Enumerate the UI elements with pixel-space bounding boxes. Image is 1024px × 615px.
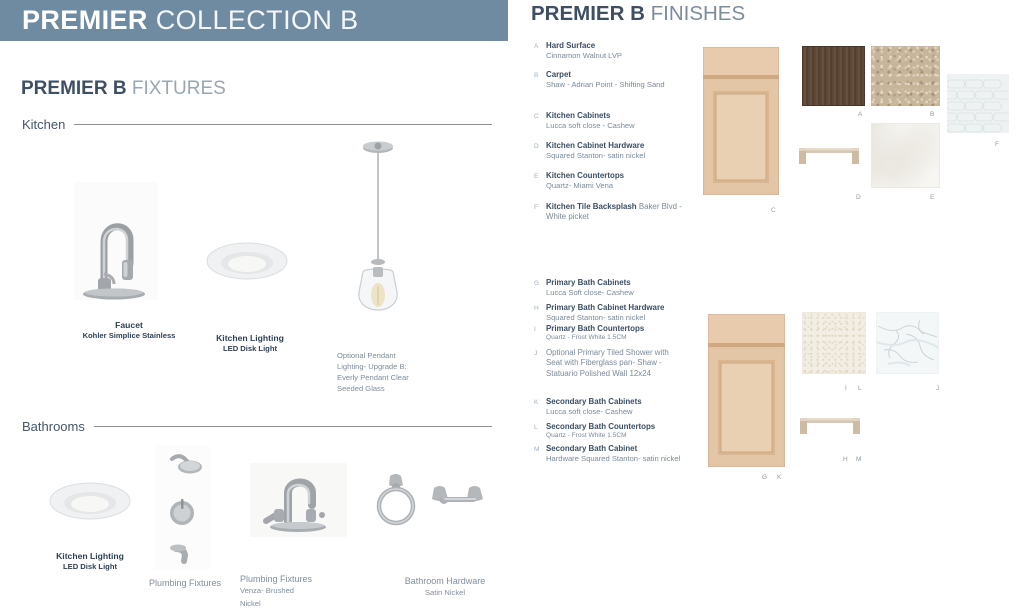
pendant-light-image bbox=[340, 140, 416, 340]
finish-sub-l: Quartz - Frost White 1.5CM bbox=[546, 432, 684, 441]
finish-item-l: L Secondary Bath Countertops Quartz - Fr… bbox=[534, 422, 684, 441]
finish-item-c: C Kitchen Cabinets Lucca soft close - Ca… bbox=[534, 111, 684, 131]
finish-title-e: Kitchen Countertops bbox=[546, 171, 684, 181]
finish-item-e: E Kitchen Countertops Quartz- Miami Vena bbox=[534, 171, 684, 191]
finish-title-j: Optional Primary Tiled Shower with Seat … bbox=[546, 348, 684, 379]
shower-trim-image bbox=[154, 445, 210, 570]
finishes-heading-light: FINISHES bbox=[651, 2, 746, 25]
finish-sub-g: Lucca Soft close- Cashew bbox=[546, 288, 684, 298]
finish-sub-k: Lucca soft close- Cashew bbox=[546, 407, 684, 417]
finish-sub-h: Squared Stanton- satin nickel bbox=[546, 313, 692, 323]
swatch-hard-surface-walnut bbox=[802, 46, 865, 106]
swatch-tile-white-picket bbox=[947, 74, 1009, 133]
caption-optional-pendant: Optional Pendant Lighting- Upgrade B: Ev… bbox=[337, 350, 457, 394]
caption-lav-faucet: Plumbing Fixtures Venza- Brushed Nickel bbox=[240, 574, 360, 609]
swatch-letter-a: A bbox=[858, 111, 862, 118]
caption-lav-faucet-line3: Nickel bbox=[240, 599, 360, 609]
swatch-letter-g: G bbox=[762, 474, 767, 481]
caption-shower-trim: Plumbing Fixtures bbox=[125, 578, 245, 590]
caption-bath-hardware-line2: Satin Nickel bbox=[385, 588, 505, 598]
finish-item-b: B Carpet Shaw - Adrian Point - Shifting … bbox=[534, 70, 684, 90]
caption-bath-hardware: Bathroom Hardware Satin Nickel bbox=[385, 576, 505, 597]
finish-letter-b: B bbox=[534, 70, 546, 90]
design-board-page: PREMIER COLLECTION B PREMIER B FINISHES … bbox=[0, 0, 1024, 615]
fixtures-heading: PREMIER B FIXTURES bbox=[21, 78, 226, 100]
finish-sub-m: Hardware Squared Stanton- satin nickel bbox=[546, 454, 684, 464]
swatch-letter-j: J bbox=[936, 385, 939, 392]
finish-letter-c: C bbox=[534, 111, 546, 131]
section-label-kitchen: Kitchen bbox=[22, 117, 74, 132]
swatch-letter-h: H bbox=[843, 456, 848, 463]
caption-optional-pendant-line2: Lighting- Upgrade B: bbox=[337, 361, 457, 372]
finish-title-d: Kitchen Cabinet Hardware bbox=[546, 141, 684, 151]
finish-title-k: Secondary Bath Cabinets bbox=[546, 397, 684, 407]
swatch-quartz-frost-white bbox=[802, 312, 866, 374]
swatch-letter-e: E bbox=[930, 194, 934, 201]
caption-bath-lighting: Kitchen Lighting LED Disk Light bbox=[30, 551, 150, 572]
fixtures-heading-bold: PREMIER B bbox=[21, 78, 127, 99]
swatch-letter-f: F bbox=[995, 141, 999, 148]
finish-title-m: Secondary Bath Cabinet bbox=[546, 444, 684, 454]
caption-lav-faucet-line2: Venza- Brushed bbox=[240, 586, 360, 596]
header-bar: PREMIER COLLECTION B bbox=[0, 0, 508, 41]
swatch-letter-c: C bbox=[771, 207, 776, 214]
caption-lav-faucet-line1: Plumbing Fixtures bbox=[240, 574, 360, 586]
finish-item-h: H Primary Bath Cabinet Hardware Squared … bbox=[534, 303, 692, 323]
finishes-heading-bold: PREMIER B bbox=[531, 2, 645, 25]
finish-letter-i: I bbox=[534, 324, 546, 343]
finish-letter-d: D bbox=[534, 141, 546, 161]
finish-title-b: Carpet bbox=[546, 70, 684, 80]
swatch-quartz-miami-vena bbox=[871, 123, 940, 188]
finish-item-a: A Hard Surface Cinnamon Walnut LVP bbox=[534, 41, 684, 61]
finish-title-g: Primary Bath Cabinets bbox=[546, 278, 684, 288]
caption-optional-pendant-line4: Seeded Glass bbox=[337, 383, 457, 394]
finishes-heading: PREMIER B FINISHES bbox=[531, 2, 745, 26]
page-title-light: COLLECTION B bbox=[156, 5, 359, 35]
finish-letter-k: K bbox=[534, 397, 546, 417]
caption-optional-pendant-line1: Optional Pendant bbox=[337, 350, 457, 361]
swatch-letter-k: K bbox=[777, 474, 781, 481]
bath-disk-light-image bbox=[49, 478, 131, 524]
page-title-bold: PREMIER bbox=[22, 5, 148, 35]
caption-faucet-line1: Faucet bbox=[58, 320, 200, 331]
finish-sub-i: Quartz - Frost White 1.5CM bbox=[546, 334, 684, 343]
swatch-kitchen-hardware-pull bbox=[795, 140, 863, 174]
caption-bath-hardware-line1: Bathroom Hardware bbox=[385, 576, 505, 588]
caption-kitchen-lighting-line1: Kitchen Lighting bbox=[186, 333, 314, 344]
caption-bath-lighting-line2: LED Disk Light bbox=[30, 562, 150, 572]
caption-optional-pendant-line3: Everly Pendant Clear bbox=[337, 372, 457, 383]
finish-title-h: Primary Bath Cabinet Hardware bbox=[546, 303, 692, 313]
caption-kitchen-lighting-line2: LED Disk Light bbox=[186, 344, 314, 354]
finish-letter-e: E bbox=[534, 171, 546, 191]
lav-faucet-image bbox=[250, 463, 347, 537]
kitchen-disk-light-image bbox=[206, 238, 288, 284]
finish-letter-a: A bbox=[534, 41, 546, 61]
swatch-letter-l: L bbox=[858, 385, 862, 392]
finish-title-a: Hard Surface bbox=[546, 41, 684, 51]
finish-item-f: F Kitchen Tile Backsplash Baker Blvd - W… bbox=[534, 202, 684, 223]
swatch-bath-cabinet-door bbox=[708, 314, 785, 467]
faucet-image bbox=[74, 182, 158, 300]
finish-item-j: J Optional Primary Tiled Shower with Sea… bbox=[534, 348, 684, 379]
finish-title-j-reg: Optional Primary Tiled Shower with Seat … bbox=[546, 348, 669, 378]
finish-title-l: Secondary Bath Countertops bbox=[546, 422, 684, 432]
caption-faucet-line2: Kohler Simplice Stainless bbox=[58, 331, 200, 341]
finish-sub-c: Lucca soft close - Cashew bbox=[546, 121, 684, 131]
section-header-kitchen: Kitchen bbox=[22, 117, 492, 132]
bath-hardware-image bbox=[368, 470, 483, 532]
finish-sub-e: Quartz- Miami Vena bbox=[546, 181, 684, 191]
caption-kitchen-lighting: Kitchen Lighting LED Disk Light bbox=[186, 333, 314, 354]
swatch-carpet-shifting-sand bbox=[871, 46, 940, 106]
section-rule-kitchen bbox=[74, 124, 492, 125]
finish-letter-m: M bbox=[534, 444, 546, 464]
fixtures-heading-light: FIXTURES bbox=[132, 78, 226, 99]
swatch-bath-hardware-pull bbox=[796, 410, 864, 444]
finish-item-m: M Secondary Bath Cabinet Hardware Square… bbox=[534, 444, 684, 464]
finish-item-i: I Primary Bath Countertops Quartz - Fros… bbox=[534, 324, 684, 343]
finish-letter-l: L bbox=[534, 422, 546, 441]
finish-sub-b: Shaw - Adrian Point - Shifting Sand bbox=[546, 80, 684, 90]
swatch-letter-b: B bbox=[930, 111, 934, 118]
finish-letter-h: H bbox=[534, 303, 546, 323]
finish-title-f: Kitchen Tile Backsplash Baker Blvd - Whi… bbox=[546, 202, 684, 223]
finish-title-c: Kitchen Cabinets bbox=[546, 111, 684, 121]
finish-sub-d: Squared Stanton- satin nickel bbox=[546, 151, 684, 161]
swatch-letter-m: M bbox=[856, 456, 861, 463]
swatch-letter-i: I bbox=[845, 385, 847, 392]
swatch-letter-d: D bbox=[856, 194, 861, 201]
swatch-statuario-wall-tile bbox=[876, 312, 939, 374]
caption-faucet: Faucet Kohler Simplice Stainless bbox=[58, 320, 200, 341]
section-label-bathrooms: Bathrooms bbox=[22, 419, 94, 434]
caption-bath-lighting-line1: Kitchen Lighting bbox=[30, 551, 150, 562]
finish-letter-j: J bbox=[534, 348, 546, 379]
finish-sub-a: Cinnamon Walnut LVP bbox=[546, 51, 684, 61]
finish-title-f-bold: Kitchen Tile Backsplash bbox=[546, 202, 637, 211]
finish-title-i: Primary Bath Countertops bbox=[546, 324, 684, 334]
finish-item-g: G Primary Bath Cabinets Lucca Soft close… bbox=[534, 278, 684, 298]
page-title: PREMIER COLLECTION B bbox=[22, 5, 359, 36]
section-header-bathrooms: Bathrooms bbox=[22, 419, 492, 434]
section-rule-bathrooms bbox=[94, 426, 492, 427]
finish-letter-g: G bbox=[534, 278, 546, 298]
caption-shower-trim-line1: Plumbing Fixtures bbox=[125, 578, 245, 590]
swatch-kitchen-cabinet-door bbox=[703, 47, 779, 195]
finish-item-k: K Secondary Bath Cabinets Lucca soft clo… bbox=[534, 397, 684, 417]
finish-item-d: D Kitchen Cabinet Hardware Squared Stant… bbox=[534, 141, 684, 161]
finish-letter-f: F bbox=[534, 202, 546, 223]
